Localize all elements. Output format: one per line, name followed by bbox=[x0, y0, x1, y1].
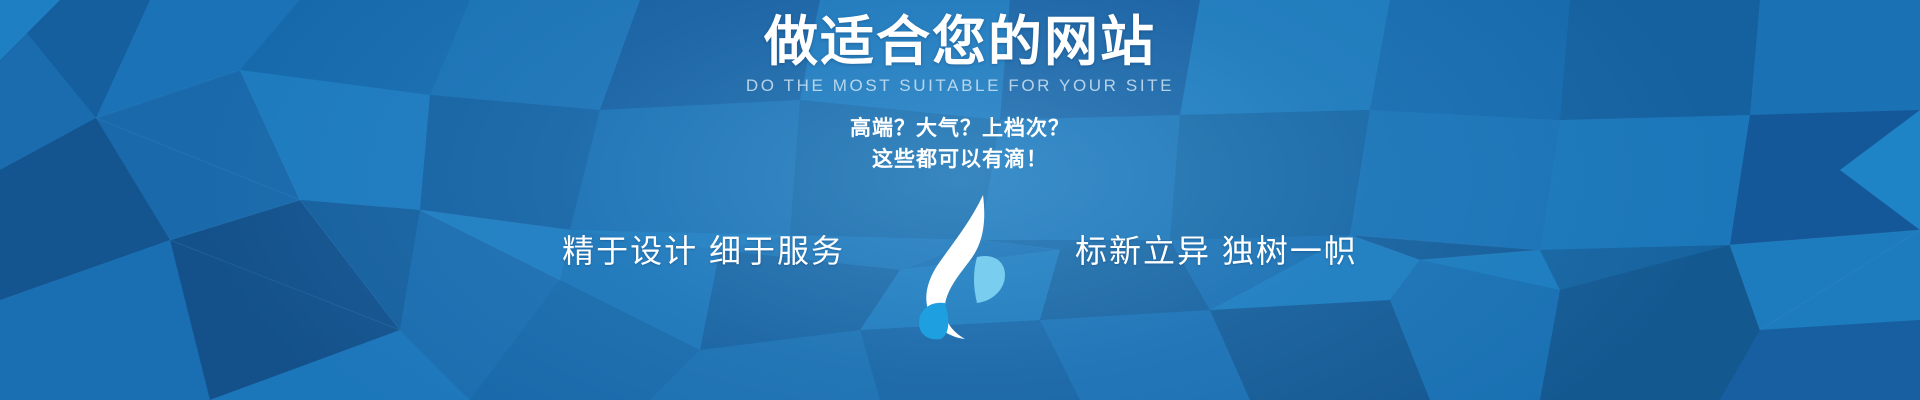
banner-title: 做适合您的网站 bbox=[764, 12, 1156, 72]
banner-pitch: 高端？大气？上档次？ 这些都可以有滴！ bbox=[850, 114, 1070, 175]
banner-subtitle-english: DO THE MOST SUITABLE FOR YOUR SITE bbox=[746, 76, 1174, 96]
pitch-line-2: 这些都可以有滴！ bbox=[850, 145, 1070, 175]
pitch-line-1: 高端？大气？上档次？ bbox=[850, 114, 1070, 144]
slogan-left: 精于设计 细于服务 bbox=[562, 226, 845, 272]
banner-content: 做适合您的网站 DO THE MOST SUITABLE FOR YOUR SI… bbox=[0, 0, 1920, 400]
slogan-row: 精于设计 细于服务 标新立异 独树一帜 bbox=[562, 191, 1358, 307]
hero-banner: 做适合您的网站 DO THE MOST SUITABLE FOR YOUR SI… bbox=[0, 0, 1920, 400]
slogan-right: 标新立异 独树一帜 bbox=[1075, 226, 1358, 272]
leaf-swoosh-logo-icon bbox=[901, 191, 1019, 341]
